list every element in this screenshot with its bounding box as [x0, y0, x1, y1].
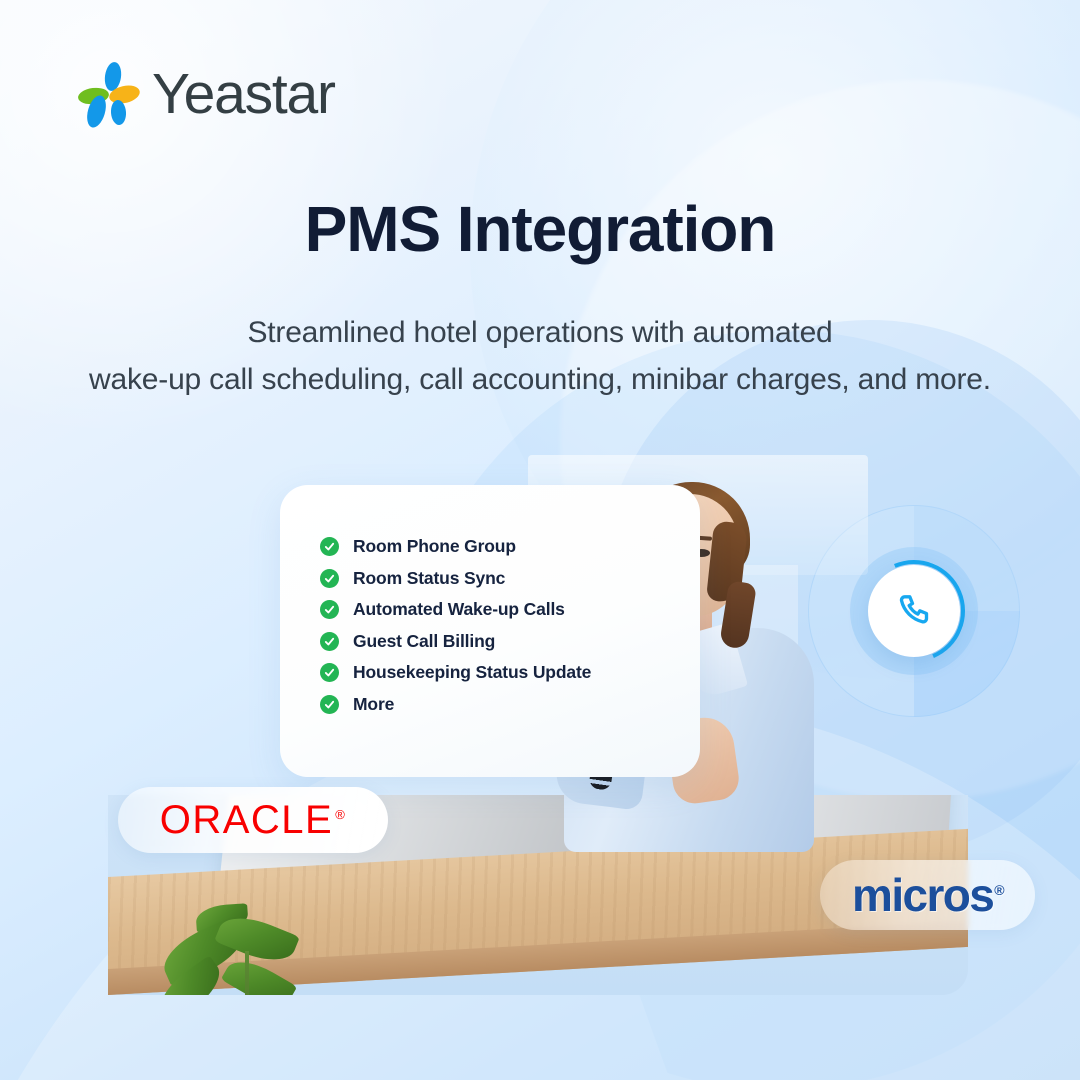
brand-wordmark: Yeastar [152, 66, 335, 123]
page-title: PMS Integration [0, 196, 1080, 263]
feature-label: Housekeeping Status Update [353, 662, 591, 683]
check-circle-icon [320, 600, 339, 619]
plant-leaf [221, 952, 298, 995]
feature-label: Guest Call Billing [353, 631, 495, 652]
micros-wordmark: micros [852, 869, 993, 921]
check-circle-icon [320, 569, 339, 588]
potted-plant-icon [166, 925, 316, 995]
partner-badge-oracle[interactable]: ORACLE® [118, 787, 388, 853]
subtitle-line-2: wake-up call scheduling, call accounting… [0, 357, 1080, 404]
page-subtitle: Streamlined hotel operations with automa… [0, 310, 1080, 403]
logo-petal-bottom-right [110, 100, 127, 126]
yeastar-flower-logo-icon [78, 62, 140, 126]
check-circle-icon [320, 663, 339, 682]
feature-label: Room Phone Group [353, 536, 516, 557]
partner-badge-micros[interactable]: micros® [820, 860, 1035, 930]
feature-label: Automated Wake-up Calls [353, 599, 565, 620]
list-item[interactable]: Room Status Sync [320, 563, 591, 595]
oracle-logo-icon: ORACLE® [160, 800, 347, 840]
oracle-trademark: ® [335, 807, 346, 822]
micros-logo-icon: micros® [852, 872, 1003, 918]
list-item[interactable]: Room Phone Group [320, 531, 591, 563]
brand-logo[interactable]: Yeastar [78, 62, 335, 126]
plant-stem [245, 951, 249, 995]
micros-trademark: ® [994, 882, 1003, 898]
oracle-wordmark: ORACLE [160, 798, 334, 842]
list-item[interactable]: Guest Call Billing [320, 626, 591, 658]
check-circle-icon [320, 632, 339, 651]
subtitle-line-1: Streamlined hotel operations with automa… [0, 310, 1080, 357]
check-circle-icon [320, 537, 339, 556]
feature-card: Room Phone Group Room Status Sync [280, 485, 700, 777]
feature-list: Room Phone Group Room Status Sync [320, 531, 591, 720]
poster-canvas: Yeastar PMS Integration Streamlined hote… [0, 0, 1080, 1080]
list-item[interactable]: Automated Wake-up Calls [320, 594, 591, 626]
feature-label: More [353, 694, 394, 715]
list-item[interactable]: Housekeeping Status Update [320, 657, 591, 689]
check-circle-icon [320, 695, 339, 714]
feature-label: Room Status Sync [353, 568, 505, 589]
phone-handset-icon [894, 591, 934, 631]
list-item[interactable]: More [320, 689, 591, 721]
call-badge[interactable] [868, 565, 960, 657]
